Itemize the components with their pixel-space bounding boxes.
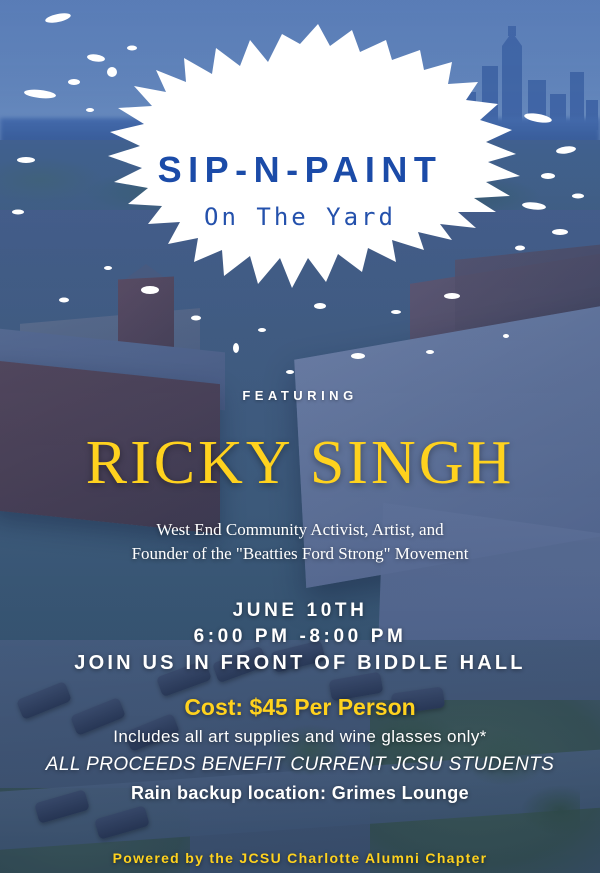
event-location: JOIN US IN FRONT OF BIDDLE HALL (0, 652, 600, 675)
proceeds-statement: ALL PROCEEDS BENEFIT CURRENT JCSU STUDEN… (0, 754, 600, 776)
bio-line-2: Founder of the "Beatties Ford Strong" Mo… (0, 542, 600, 566)
event-flyer: SIP-N-PAINT On The Yard FEATURING RICKY … (0, 0, 600, 873)
headliner-bio: West End Community Activist, Artist, and… (0, 518, 600, 566)
event-date: JUNE 10TH (0, 600, 600, 622)
featuring-label: FEATURING (0, 388, 600, 403)
ticket-price: Cost: $45 Per Person (0, 694, 600, 721)
includes-note: Includes all art supplies and wine glass… (0, 727, 600, 747)
rain-backup-note: Rain backup location: Grimes Lounge (0, 783, 600, 804)
powered-by-footer: Powered by the JCSU Charlotte Alumni Cha… (0, 850, 600, 866)
page-title: SIP-N-PAINT (0, 150, 600, 190)
event-time: 6:00 PM -8:00 PM (0, 626, 600, 648)
title-block: SIP-N-PAINT On The Yard (0, 150, 600, 231)
bio-line-1: West End Community Activist, Artist, and (0, 518, 600, 542)
page-subtitle: On The Yard (0, 203, 600, 231)
event-details-block: JUNE 10TH 6:00 PM -8:00 PM JOIN US IN FR… (0, 600, 600, 675)
headliner-name: RICKY SINGH (0, 428, 600, 499)
